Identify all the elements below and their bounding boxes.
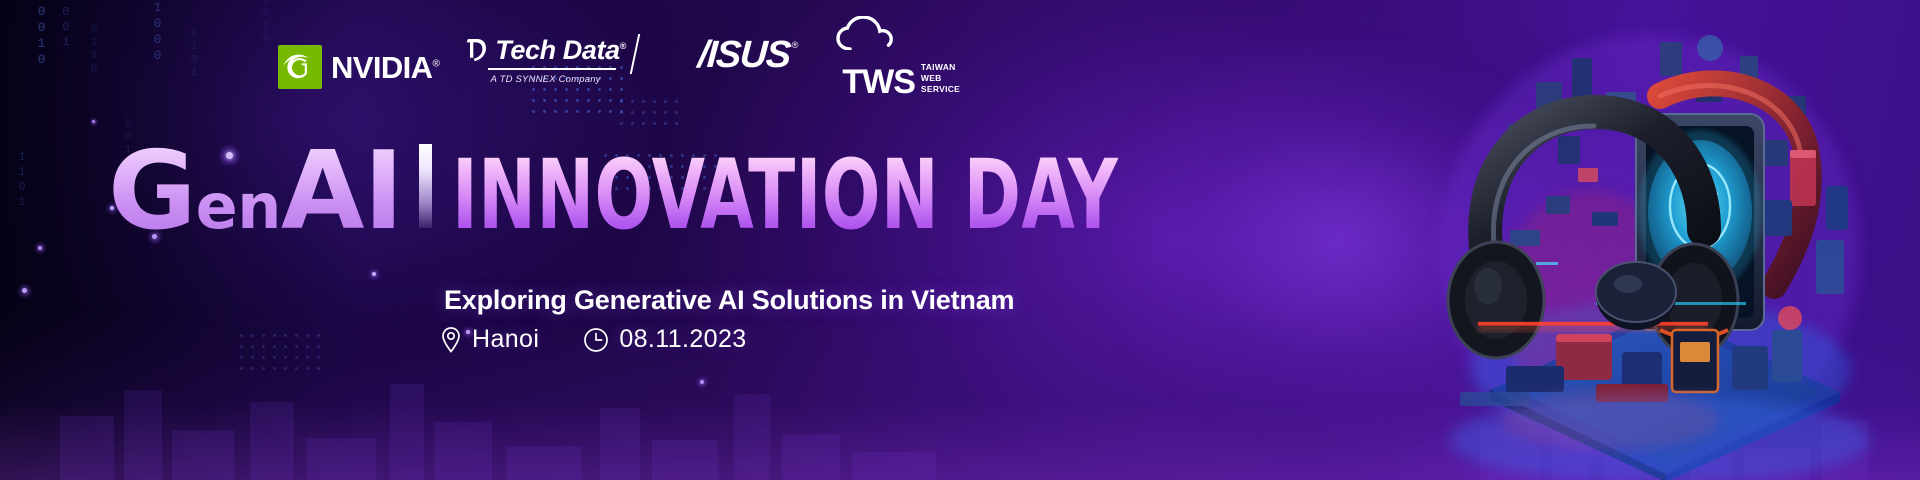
event-date: 08.11.2023 [583, 325, 746, 354]
glow-particle [22, 288, 27, 293]
nvidia-logo: NVIDIA® [278, 36, 439, 98]
binary-code-decor: 0110 [86, 24, 101, 76]
subtitle: Exploring Generative AI Solutions in Vie… [444, 285, 1014, 316]
dot-matrix-decor [236, 330, 326, 370]
nvidia-eye-glyph [282, 52, 318, 82]
techdata-d-logo-icon [465, 36, 489, 64]
clock-icon [583, 327, 609, 353]
techdata-slash-decor [630, 34, 641, 74]
sphere-object [1596, 262, 1676, 330]
dot-matrix-decor [616, 96, 682, 130]
headline-en: en [196, 176, 281, 238]
tws-tagline-line3: SERVICE [921, 84, 960, 95]
tws-tagline: TAIWAN WEB SERVICE [921, 62, 960, 98]
headline-innovation-day: INNOVATION DAY [452, 147, 1118, 243]
illustration-svg [1360, 0, 1920, 480]
binary-code-decor: 1101 [14, 150, 29, 210]
glow-particle [700, 380, 704, 384]
techdata-underline-decor [487, 68, 615, 70]
event-meta-row: Hanoi 08.11.2023 [440, 325, 747, 354]
ai-tech-illustration [1360, 0, 1920, 480]
tws-wordmark: TWS [842, 67, 915, 98]
tws-tagline-line1: TAIWAN [921, 62, 960, 73]
tws-tagline-line2: WEB [921, 73, 960, 84]
asus-registered-mark: ® [792, 40, 799, 50]
binary-code-decor: 1010 [258, 0, 273, 46]
main-headline: GenAI INNOVATION DAY [108, 138, 1285, 246]
headline-ai: AI [281, 138, 403, 246]
techdata-row: Tech Data® [465, 36, 626, 64]
event-location: Hanoi [440, 325, 539, 354]
glow-particle [92, 120, 95, 123]
location-text: Hanoi [472, 325, 539, 354]
genai-innovation-day-banner: 0010 1001 0110 1000 0101 1101 0011 1010 [0, 0, 1920, 480]
headline-divider-bar [419, 144, 432, 228]
binary-code-decor: 1001 [58, 0, 73, 50]
date-text: 08.11.2023 [619, 325, 746, 354]
nvidia-eye-logo-icon [278, 45, 322, 89]
asus-wordmark: /ISUS [697, 36, 791, 74]
glow-particle [38, 246, 42, 250]
techdata-tagline: A TD SYNNEX Company [491, 74, 601, 85]
map-pin-icon [440, 326, 462, 354]
techdata-wordmark: Tech Data® [495, 37, 626, 64]
binary-code-decor: 1000 [150, 0, 165, 64]
glow-particle [372, 272, 376, 276]
tws-logo: TWS TAIWAN WEB SERVICE [842, 36, 960, 98]
techdata-logo: Tech Data® A TD SYNNEX Company [465, 36, 636, 98]
nvidia-wordmark: NVIDIA® [331, 52, 439, 83]
partner-logo-row: NVIDIA® Tech Data® A TD SYNNEX Company /… [278, 36, 960, 98]
binary-code-decor: 0101 [186, 28, 201, 80]
asus-logo: /ISUS ® [698, 36, 798, 98]
headline-g: G [108, 138, 196, 246]
binary-code-decor: 0010 [34, 4, 49, 68]
cloud-icon [836, 16, 898, 50]
genai-wordmark: GenAI [108, 138, 403, 246]
